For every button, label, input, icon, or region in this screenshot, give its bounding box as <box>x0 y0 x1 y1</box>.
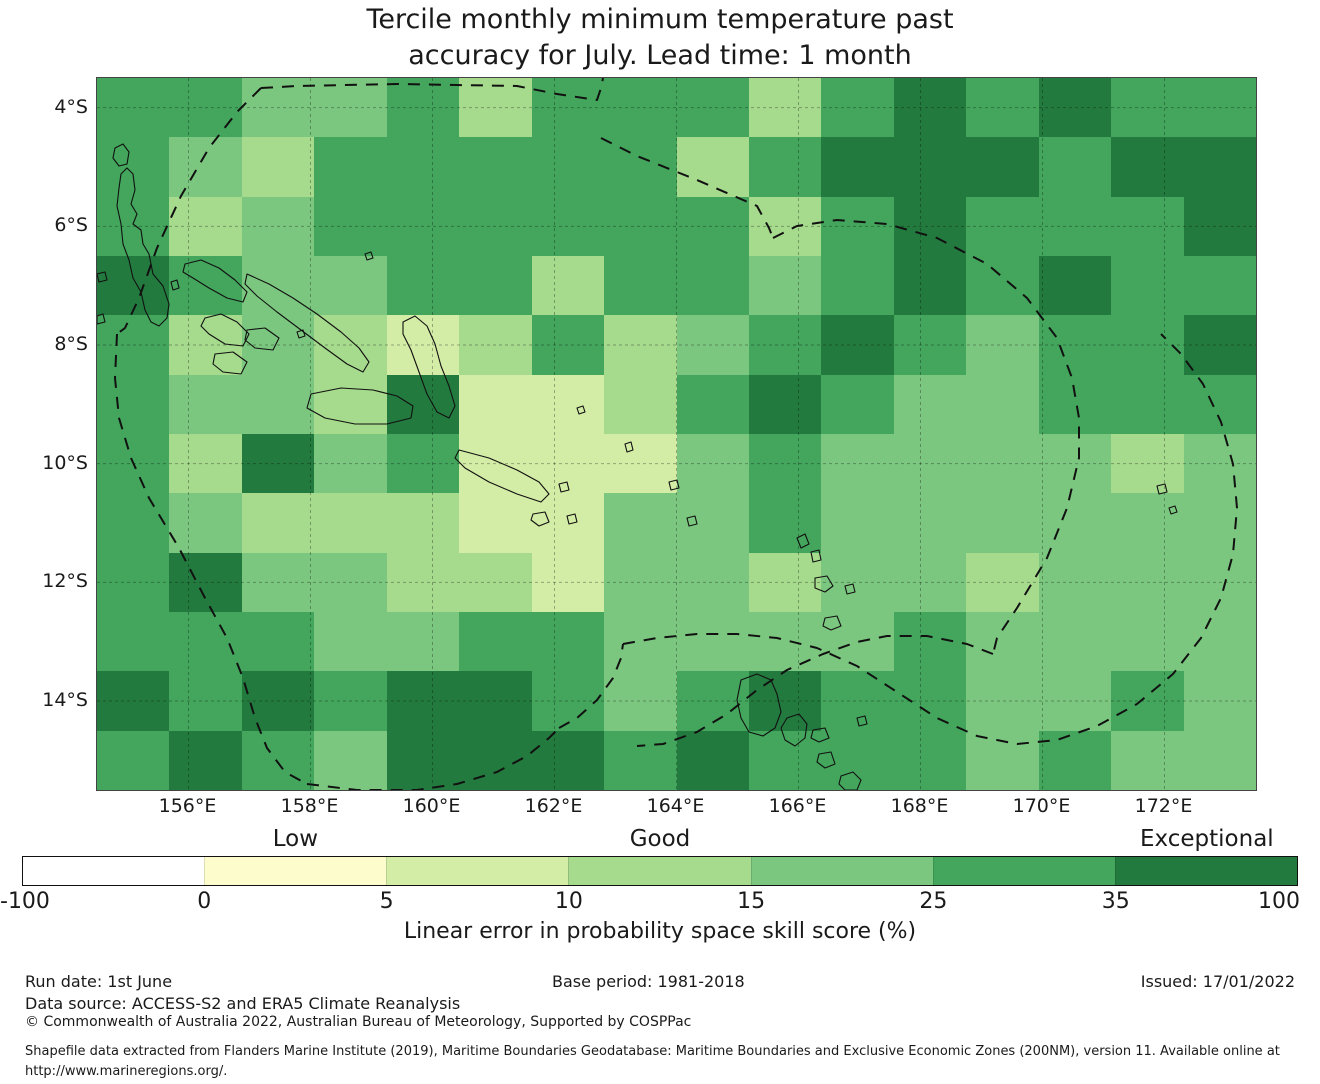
longitude-tick-label: 162°E <box>525 795 583 817</box>
colorbar-tick-label: -100 <box>0 889 50 914</box>
heatmap-cell <box>894 197 966 256</box>
heatmap-cell <box>821 197 893 256</box>
heatmap-cell <box>1039 612 1111 671</box>
heatmap-cell <box>894 612 966 671</box>
heatmap-cell <box>242 434 314 493</box>
heatmap-cell <box>459 197 531 256</box>
longitude-tick-label: 172°E <box>1135 795 1193 817</box>
colorbar-category-labels: LowGoodExceptional <box>0 826 1320 854</box>
heatmap-cell <box>532 256 604 315</box>
heatmap-cell <box>169 434 241 493</box>
heatmap-cell <box>1184 375 1256 434</box>
heatmap-cell <box>1039 197 1111 256</box>
heatmap-cell <box>749 671 821 730</box>
heatmap-cell <box>821 671 893 730</box>
heatmap-cell <box>1039 671 1111 730</box>
heatmap-cell <box>604 375 676 434</box>
heatmap-cell <box>604 197 676 256</box>
heatmap-cell <box>97 197 169 256</box>
heatmap-cell <box>97 137 169 196</box>
heatmap-cell <box>749 731 821 790</box>
heatmap-cell <box>894 137 966 196</box>
heatmap-cell <box>966 553 1038 612</box>
latitude-tick-label: 8°S <box>54 333 88 355</box>
heatmap-cell <box>532 78 604 137</box>
heatmap-cell <box>1111 315 1183 374</box>
heatmap-cell <box>677 137 749 196</box>
heatmap-cell <box>97 612 169 671</box>
heatmap-cell <box>1039 78 1111 137</box>
heatmap-cell <box>314 671 386 730</box>
heatmap-cell <box>532 731 604 790</box>
heatmap-cell <box>387 197 459 256</box>
heatmap-cell <box>387 434 459 493</box>
heatmap-cell <box>459 315 531 374</box>
shapefile-credit-line2: http://www.marineregions.org/. <box>25 1064 227 1079</box>
heatmap-cell <box>387 375 459 434</box>
heatmap-cell <box>1111 493 1183 552</box>
heatmap-cell <box>677 671 749 730</box>
colorbar-tick-labels: -1000510152535100 <box>0 889 1320 915</box>
heatmap-cell <box>894 315 966 374</box>
heatmap-cell <box>459 671 531 730</box>
heatmap-cell <box>242 493 314 552</box>
colorbar-category-label: Good <box>630 826 691 852</box>
heatmap-cell <box>97 731 169 790</box>
heatmap-cell <box>314 375 386 434</box>
heatmap-cell <box>387 256 459 315</box>
map-plot <box>96 77 1257 791</box>
heatmap-cell <box>242 197 314 256</box>
heatmap-cell <box>894 671 966 730</box>
heatmap-cell <box>749 434 821 493</box>
heatmap-cell <box>894 78 966 137</box>
heatmap-cell <box>459 553 531 612</box>
heatmap-cell <box>749 553 821 612</box>
colorbar-band <box>933 857 1115 885</box>
heatmap-cell <box>1184 315 1256 374</box>
longitude-tick-label: 170°E <box>1013 795 1071 817</box>
heatmap-cell <box>97 553 169 612</box>
heatmap-cell <box>1111 375 1183 434</box>
heatmap-cell <box>1184 78 1256 137</box>
heatmap-cell <box>532 315 604 374</box>
heatmap-cell <box>966 197 1038 256</box>
heatmap-cell <box>749 78 821 137</box>
colorbar-category-label: Exceptional <box>1140 826 1274 852</box>
heatmap-cell <box>532 197 604 256</box>
heatmap-cell <box>97 493 169 552</box>
heatmap-cell <box>242 137 314 196</box>
heatmap-cell <box>749 137 821 196</box>
heatmap-cell <box>242 671 314 730</box>
heatmap-cell <box>97 375 169 434</box>
heatmap-cell <box>677 315 749 374</box>
heatmap-cell <box>459 256 531 315</box>
heatmap-cell <box>314 315 386 374</box>
longitude-tick-label: 164°E <box>647 795 705 817</box>
heatmap-cell <box>821 137 893 196</box>
heatmap-cell <box>169 78 241 137</box>
heatmap-cell <box>532 671 604 730</box>
heatmap-cell <box>966 434 1038 493</box>
colorbar-tick-label: 25 <box>919 889 947 914</box>
heatmap-cell <box>97 256 169 315</box>
heatmap-cell <box>1039 553 1111 612</box>
issued-date: Issued: 17/01/2022 <box>1141 972 1295 991</box>
heatmap-cell <box>604 493 676 552</box>
colorbar-tick-label: 0 <box>197 889 211 914</box>
heatmap-cell <box>1039 493 1111 552</box>
heatmap-cell <box>387 137 459 196</box>
heatmap-cell <box>821 493 893 552</box>
heatmap-cell <box>532 493 604 552</box>
heatmap-cell <box>169 493 241 552</box>
heatmap-cell <box>97 671 169 730</box>
heatmap-cell <box>242 731 314 790</box>
colorbar-band <box>386 857 568 885</box>
heatmap-cell <box>894 493 966 552</box>
heatmap-cell <box>604 315 676 374</box>
heatmap-cell <box>169 553 241 612</box>
heatmap-cell <box>169 256 241 315</box>
heatmap-cell <box>604 256 676 315</box>
latitude-tick-label: 12°S <box>42 570 88 592</box>
longitude-tick-label: 160°E <box>403 795 461 817</box>
colorbar-tick-label: 35 <box>1102 889 1130 914</box>
heatmap-cell <box>97 315 169 374</box>
heatmap-cell <box>677 375 749 434</box>
heatmap-cell <box>821 553 893 612</box>
heatmap-cell <box>1111 137 1183 196</box>
heatmap-cell <box>459 731 531 790</box>
heatmap-cell <box>314 256 386 315</box>
heatmap-cell <box>459 78 531 137</box>
heatmap-cell <box>1111 612 1183 671</box>
heatmap-cell <box>604 612 676 671</box>
base-period: Base period: 1981-2018 <box>552 972 745 991</box>
heatmap-cell <box>604 434 676 493</box>
heatmap-cell <box>966 671 1038 730</box>
footer: Run date: 1st June Base period: 1981-201… <box>0 972 1320 1084</box>
heatmap-cell <box>1111 671 1183 730</box>
heatmap-cell <box>242 612 314 671</box>
longitude-tick-label: 166°E <box>769 795 827 817</box>
heatmap-cell <box>1039 137 1111 196</box>
heatmap-cell <box>459 137 531 196</box>
heatmap-cell <box>1111 553 1183 612</box>
heatmap-cell <box>1184 553 1256 612</box>
colorbar-band <box>23 857 204 885</box>
heatmap-cell <box>532 612 604 671</box>
heatmap-cell <box>894 434 966 493</box>
heatmap-cell <box>1184 612 1256 671</box>
heatmap-cell <box>314 78 386 137</box>
colorbar-band <box>751 857 933 885</box>
heatmap-cell <box>314 434 386 493</box>
heatmap-cell <box>604 731 676 790</box>
heatmap-cell <box>966 137 1038 196</box>
colorbar-band <box>568 857 750 885</box>
heatmap-cell <box>604 137 676 196</box>
heatmap-cell <box>1184 493 1256 552</box>
heatmap-cell <box>749 315 821 374</box>
heatmap-cell <box>459 434 531 493</box>
heatmap-cell <box>1111 434 1183 493</box>
shapefile-credit-line1: Shapefile data extracted from Flanders M… <box>25 1044 1280 1059</box>
heatmap-cell <box>169 197 241 256</box>
heatmap-cell <box>314 731 386 790</box>
colorbar-band <box>1115 857 1297 885</box>
heatmap-cell <box>677 612 749 671</box>
heatmap-cell <box>677 731 749 790</box>
heatmap-cell <box>459 493 531 552</box>
heatmap-cell <box>821 612 893 671</box>
heatmap-cell <box>677 197 749 256</box>
heatmap-cell <box>749 493 821 552</box>
longitude-tick-label: 158°E <box>281 795 339 817</box>
heatmap-cell <box>821 315 893 374</box>
heatmap-cell <box>387 671 459 730</box>
heatmap-cell <box>749 197 821 256</box>
heatmap-cell <box>1111 78 1183 137</box>
latitude-tick-label: 10°S <box>42 452 88 474</box>
heatmap-cell <box>532 434 604 493</box>
heatmap-cell <box>966 256 1038 315</box>
heatmap-cell <box>677 553 749 612</box>
heatmap-cell <box>242 256 314 315</box>
heatmap-cell <box>894 256 966 315</box>
heatmap-cell <box>1184 731 1256 790</box>
heatmap-cell <box>1039 434 1111 493</box>
colorbar-tick-label: 5 <box>380 889 394 914</box>
data-source: Data source: ACCESS-S2 and ERA5 Climate … <box>25 994 460 1013</box>
heatmap-cell <box>966 731 1038 790</box>
heatmap-cell <box>169 137 241 196</box>
heatmap-cell <box>966 493 1038 552</box>
page-title: Tercile monthly minimum temperature past… <box>0 2 1320 74</box>
heatmap-cell <box>604 78 676 137</box>
heatmap-cell <box>387 553 459 612</box>
longitude-tick-label: 168°E <box>891 795 949 817</box>
heatmap-cell <box>532 375 604 434</box>
heatmap-cell <box>821 731 893 790</box>
heatmap-cell <box>97 434 169 493</box>
heatmap-cell <box>532 137 604 196</box>
heatmap-cell <box>1039 375 1111 434</box>
heatmap-cell <box>242 78 314 137</box>
heatmap-cell <box>169 375 241 434</box>
heatmap-cell <box>821 434 893 493</box>
longitude-tick-label: 156°E <box>159 795 217 817</box>
heatmap-cell <box>966 612 1038 671</box>
heatmap-cell <box>242 315 314 374</box>
heatmap-cell <box>242 375 314 434</box>
heatmap-cell <box>821 256 893 315</box>
heatmap-cell <box>314 197 386 256</box>
heatmap-cell <box>894 553 966 612</box>
heatmap-cell <box>1184 434 1256 493</box>
colorbar-tick-label: 15 <box>737 889 765 914</box>
heatmap-cell <box>604 671 676 730</box>
heatmap-cell <box>1184 137 1256 196</box>
heatmap-cell <box>749 256 821 315</box>
latitude-tick-label: 6°S <box>54 214 88 236</box>
heatmap-cell <box>459 375 531 434</box>
heatmap-cell <box>459 612 531 671</box>
heatmap-cell <box>1111 197 1183 256</box>
heatmap-cell <box>532 553 604 612</box>
heatmap-cell <box>169 315 241 374</box>
heatmap-cell <box>749 375 821 434</box>
heatmap-cell <box>314 553 386 612</box>
heatmap-cell <box>1039 315 1111 374</box>
heatmap-cell <box>966 375 1038 434</box>
heatmap-cell <box>604 553 676 612</box>
copyright: © Commonwealth of Australia 2022, Austra… <box>25 1014 691 1030</box>
heatmap-cell <box>387 78 459 137</box>
heatmap-cell <box>97 78 169 137</box>
colorbar-band <box>204 857 386 885</box>
heatmap-cell <box>169 731 241 790</box>
colorbar-tick-label: 10 <box>555 889 583 914</box>
heatmap-cell <box>387 612 459 671</box>
heatmap-cell <box>387 315 459 374</box>
colorbar-category-label: Low <box>273 826 318 852</box>
heatmap-cell <box>1184 671 1256 730</box>
latitude-tick-label: 4°S <box>54 96 88 118</box>
heatmap-cell <box>821 375 893 434</box>
heatmap-cell <box>1039 731 1111 790</box>
heatmap-cell <box>677 78 749 137</box>
heatmap-cell <box>387 493 459 552</box>
heatmap-cell <box>1184 197 1256 256</box>
heatmap-cell <box>314 493 386 552</box>
heatmap-cell <box>242 553 314 612</box>
heatmap-cell <box>314 137 386 196</box>
heatmap-cell <box>677 434 749 493</box>
heatmap-cell <box>677 493 749 552</box>
run-date: Run date: 1st June <box>25 972 172 991</box>
latitude-tick-label: 14°S <box>42 689 88 711</box>
heatmap-cell <box>169 612 241 671</box>
heatmap-cell <box>894 731 966 790</box>
colorbar-tick-label: 100 <box>1258 889 1300 914</box>
colorbar <box>22 856 1298 886</box>
heatmap-cell <box>677 256 749 315</box>
heatmap-cell <box>1184 256 1256 315</box>
heatmap-cell <box>894 375 966 434</box>
heatmap-cell <box>1039 256 1111 315</box>
heatmap-cell <box>387 731 459 790</box>
heatmap-cell <box>169 671 241 730</box>
heatmap-cell <box>966 78 1038 137</box>
heatmap-cell <box>1111 256 1183 315</box>
heatmap-cell-grid <box>97 78 1256 790</box>
heatmap-cell <box>821 78 893 137</box>
heatmap-cell <box>1111 731 1183 790</box>
colorbar-title: Linear error in probability space skill … <box>0 919 1320 944</box>
heatmap-cell <box>749 612 821 671</box>
heatmap-cell <box>314 612 386 671</box>
heatmap-cell <box>966 315 1038 374</box>
